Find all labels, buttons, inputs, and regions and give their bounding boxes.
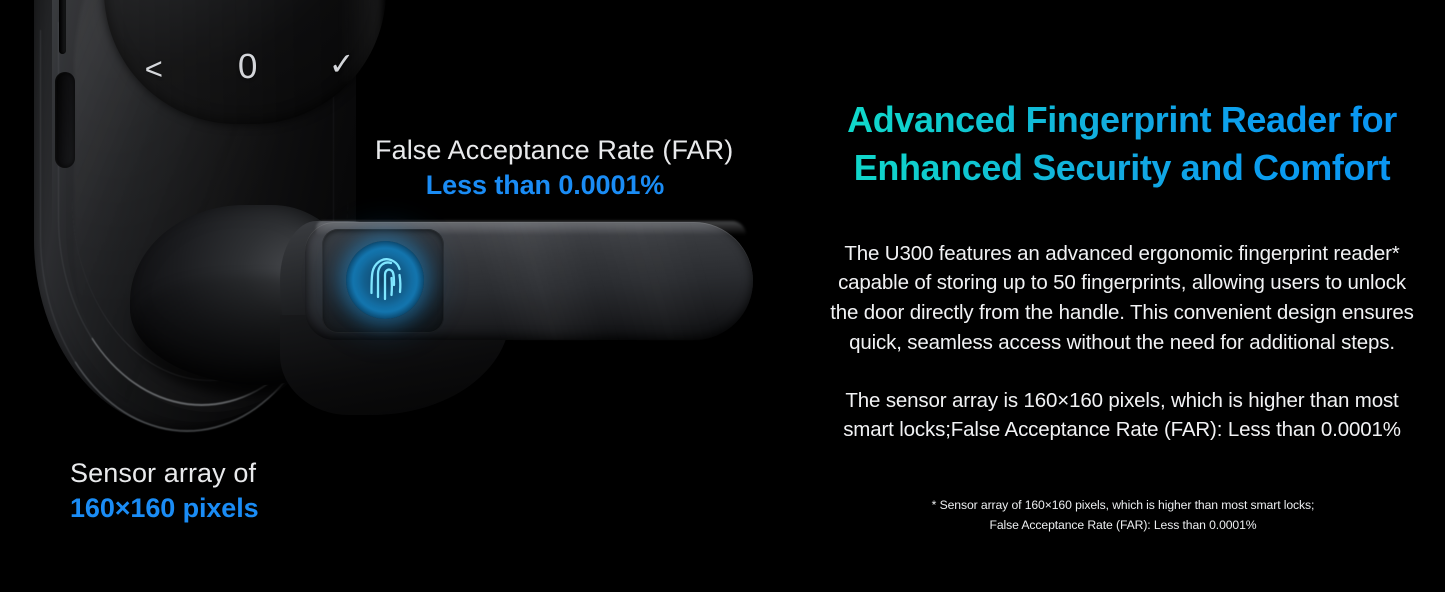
lock-side-seam (59, 0, 66, 54)
fingerprint-sensor[interactable] (346, 241, 424, 319)
footnote: * Sensor array of 160×160 pixels, which … (838, 495, 1408, 535)
keypad-panel[interactable]: 4 5 6 7 8 9 < 0 ✓ (104, 0, 386, 124)
callout-sensor-array: Sensor array of 160×160 pixels (70, 458, 310, 525)
paragraph-2-line-2: smart locks;False Acceptance Rate (FAR):… (808, 415, 1436, 445)
lock-side-button[interactable] (55, 72, 75, 168)
callout-sensor-label: Sensor array of (70, 458, 310, 490)
footnote-line-1: * Sensor array of 160×160 pixels, which … (838, 495, 1408, 515)
paragraph-2-line-1: The sensor array is 160×160 pixels, whic… (808, 386, 1436, 416)
page-title: Advanced Fingerprint Reader for Enhanced… (822, 96, 1422, 192)
product-photo-smart-lock: 4 5 6 7 8 9 < 0 ✓ (0, 0, 800, 592)
body-paragraph-2: The sensor array is 160×160 pixels, whic… (808, 386, 1436, 445)
headline-line-1: Advanced Fingerprint Reader for (822, 96, 1422, 144)
copy-panel: Advanced Fingerprint Reader for Enhanced… (800, 0, 1445, 592)
paragraph-1-line-2: capable of storing up to 50 fingerprints… (808, 268, 1436, 298)
headline-line-2: Enhanced Security and Comfort (822, 144, 1422, 192)
callout-far-value: Less than 0.0001% (375, 170, 715, 202)
paragraph-1-line-1: The U300 features an advanced ergonomic … (808, 239, 1436, 269)
footnote-line-2: False Acceptance Rate (FAR): Less than 0… (838, 515, 1408, 535)
callout-sensor-value: 160×160 pixels (70, 493, 310, 525)
promo-banner: 4 5 6 7 8 9 < 0 ✓ (0, 0, 1445, 592)
fingerprint-icon (363, 255, 407, 305)
paragraph-1-line-4: quick, seamless access without the need … (808, 328, 1436, 358)
body-paragraph-1: The U300 features an advanced ergonomic … (808, 239, 1436, 358)
callout-far-label: False Acceptance Rate (FAR) (375, 135, 715, 167)
paragraph-1-line-3: the door directly from the handle. This … (808, 298, 1436, 328)
keypad-edge-highlight (338, 0, 382, 84)
callout-false-acceptance-rate: False Acceptance Rate (FAR) Less than 0.… (375, 135, 715, 202)
